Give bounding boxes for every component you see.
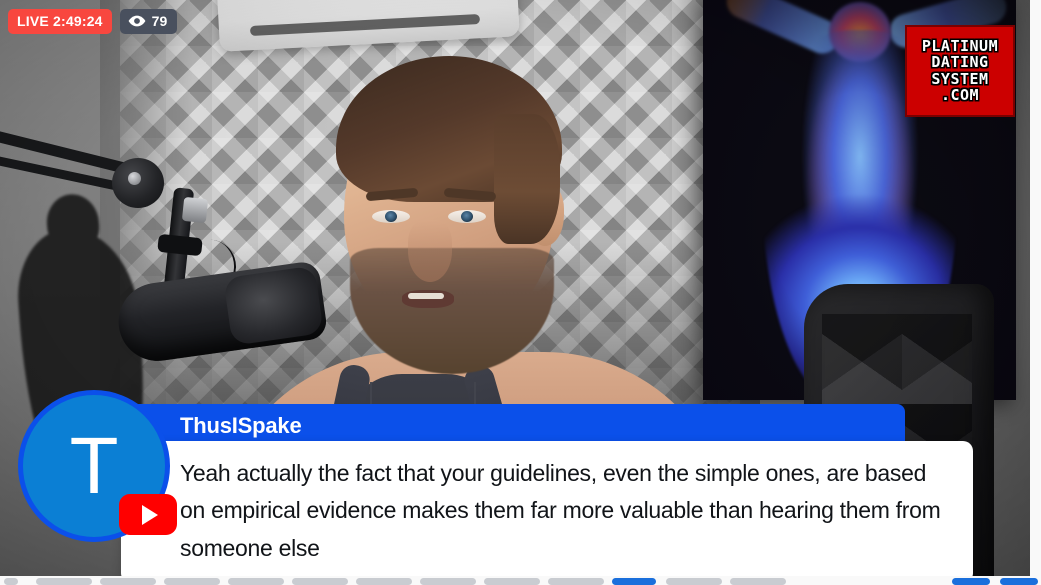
person-hair-side <box>494 114 560 244</box>
bottom-pill-button[interactable] <box>1000 578 1038 585</box>
eye-right <box>448 210 486 223</box>
mouth <box>402 290 454 308</box>
office-chair <box>804 284 994 576</box>
viewer-count-badge: 79 <box>120 9 178 34</box>
viewer-count-value: 79 <box>152 13 168 29</box>
bottom-pill-button[interactable] <box>484 578 540 585</box>
bottom-pill-button[interactable] <box>164 578 220 585</box>
watermark-line-1: PLATINUM <box>922 39 998 54</box>
boom-arm-joint <box>112 158 164 208</box>
live-badge: LIVE 2:49:24 <box>8 9 112 34</box>
bottom-pill-button[interactable] <box>292 578 348 585</box>
bottom-pill-button[interactable] <box>730 578 786 585</box>
bottom-pill-button[interactable] <box>548 578 604 585</box>
eye-icon <box>128 15 146 27</box>
tattoo-right-arm <box>532 400 682 576</box>
bottom-pill-button[interactable] <box>952 578 990 585</box>
eye-left <box>372 210 410 223</box>
video-player[interactable]: LIVE 2:49:24 79 PLATINUM DATING SYSTEM .… <box>0 0 1030 576</box>
bottom-pill-button[interactable] <box>4 578 18 585</box>
watermark-line-3: SYSTEM <box>931 72 988 87</box>
bottom-pill-button[interactable] <box>666 578 722 585</box>
nose <box>408 220 452 282</box>
watermark-line-2: DATING <box>931 55 988 70</box>
bottom-pill-button[interactable] <box>612 578 656 585</box>
channel-watermark-logo: PLATINUM DATING SYSTEM .COM <box>905 25 1015 117</box>
bottom-pill-button[interactable] <box>356 578 412 585</box>
bottom-button-strip[interactable] <box>0 578 1041 585</box>
bottom-pill-button[interactable] <box>100 578 156 585</box>
watermark-line-4: .COM <box>941 88 979 103</box>
microphone-collar <box>182 197 208 223</box>
bottom-pill-button[interactable] <box>420 578 476 585</box>
stream-status-badges: LIVE 2:49:24 79 <box>8 9 177 34</box>
page-root: LIVE 2:49:24 79 PLATINUM DATING SYSTEM .… <box>0 0 1041 585</box>
bottom-pill-button[interactable] <box>36 578 92 585</box>
bottom-pill-button[interactable] <box>228 578 284 585</box>
